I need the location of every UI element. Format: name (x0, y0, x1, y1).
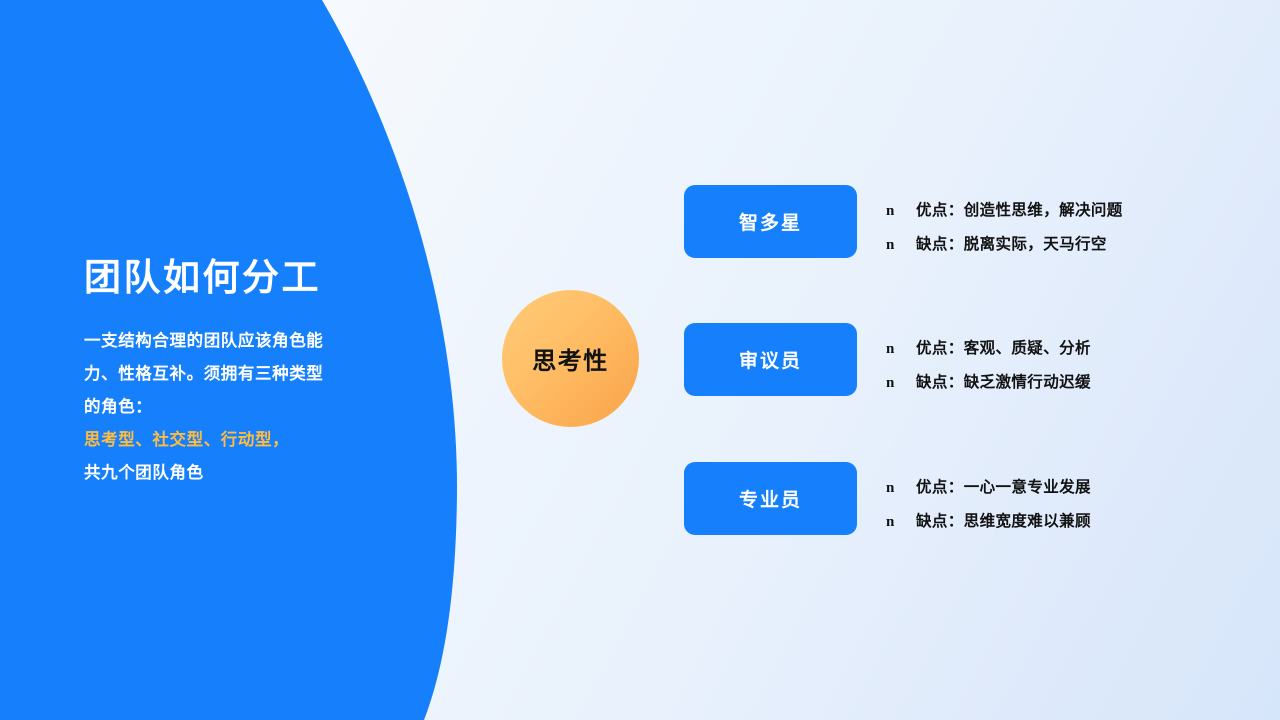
role-chip-label: 审议员 (739, 346, 802, 373)
role-row: 专业员 n 优点：一心一意专业发展 n 缺点：思维宽度难以兼顾 (684, 462, 1091, 543)
slide-canvas: 团队如何分工 一支结构合理的团队应该角色能 力、性格互补。须拥有三种类型 的角色… (0, 0, 1280, 720)
list-item: n 缺点：脱离实际，天马行空 (886, 232, 1123, 266)
role-chip-label: 专业员 (739, 485, 802, 512)
intro-line-3: 的角色： (84, 391, 414, 424)
role-points-0: n 优点：创造性思维，解决问题 n 缺点：脱离实际，天马行空 (886, 185, 1123, 266)
point-text: 优点：客观、质疑、分析 (916, 336, 1091, 358)
role-chip-1[interactable]: 审议员 (684, 323, 857, 396)
role-chip-2[interactable]: 专业员 (684, 462, 857, 535)
intro-line-2: 力、性格互补。须拥有三种类型 (84, 358, 414, 391)
intro-line-4-highlight: 思考型、社交型、行动型， (84, 424, 414, 457)
list-item: n 缺点：缺乏激情行动迟缓 (886, 370, 1091, 404)
square-bullet-icon: n (886, 237, 916, 254)
role-chip-label: 智多星 (739, 208, 802, 235)
role-row: 审议员 n 优点：客观、质疑、分析 n 缺点：缺乏激情行动迟缓 (684, 323, 1091, 404)
point-text: 缺点：思维宽度难以兼顾 (916, 509, 1091, 531)
list-item: n 优点：一心一意专业发展 (886, 475, 1091, 509)
point-text: 缺点：脱离实际，天马行空 (916, 232, 1107, 254)
point-text: 优点：创造性思维，解决问题 (916, 198, 1123, 220)
list-item: n 优点：创造性思维，解决问题 (886, 198, 1123, 232)
list-item: n 缺点：思维宽度难以兼顾 (886, 509, 1091, 543)
list-item: n 优点：客观、质疑、分析 (886, 336, 1091, 370)
square-bullet-icon: n (886, 375, 916, 392)
intro-line-5: 共九个团队角色 (84, 457, 414, 490)
square-bullet-icon: n (886, 480, 916, 497)
category-circle-label: 思考性 (532, 341, 609, 376)
role-points-1: n 优点：客观、质疑、分析 n 缺点：缺乏激情行动迟缓 (886, 323, 1091, 404)
square-bullet-icon: n (886, 341, 916, 358)
point-text: 缺点：缺乏激情行动迟缓 (916, 370, 1091, 392)
intro-line-1: 一支结构合理的团队应该角色能 (84, 325, 414, 358)
left-text-panel: 团队如何分工 一支结构合理的团队应该角色能 力、性格互补。须拥有三种类型 的角色… (84, 258, 414, 490)
point-text: 优点：一心一意专业发展 (916, 475, 1091, 497)
intro-paragraph: 一支结构合理的团队应该角色能 力、性格互补。须拥有三种类型 的角色： 思考型、社… (84, 325, 414, 490)
role-points-2: n 优点：一心一意专业发展 n 缺点：思维宽度难以兼顾 (886, 462, 1091, 543)
square-bullet-icon: n (886, 514, 916, 531)
role-chip-0[interactable]: 智多星 (684, 185, 857, 258)
category-circle-thinking: 思考性 (502, 290, 639, 427)
square-bullet-icon: n (886, 203, 916, 220)
page-title: 团队如何分工 (84, 258, 414, 299)
role-row: 智多星 n 优点：创造性思维，解决问题 n 缺点：脱离实际，天马行空 (684, 185, 1123, 266)
